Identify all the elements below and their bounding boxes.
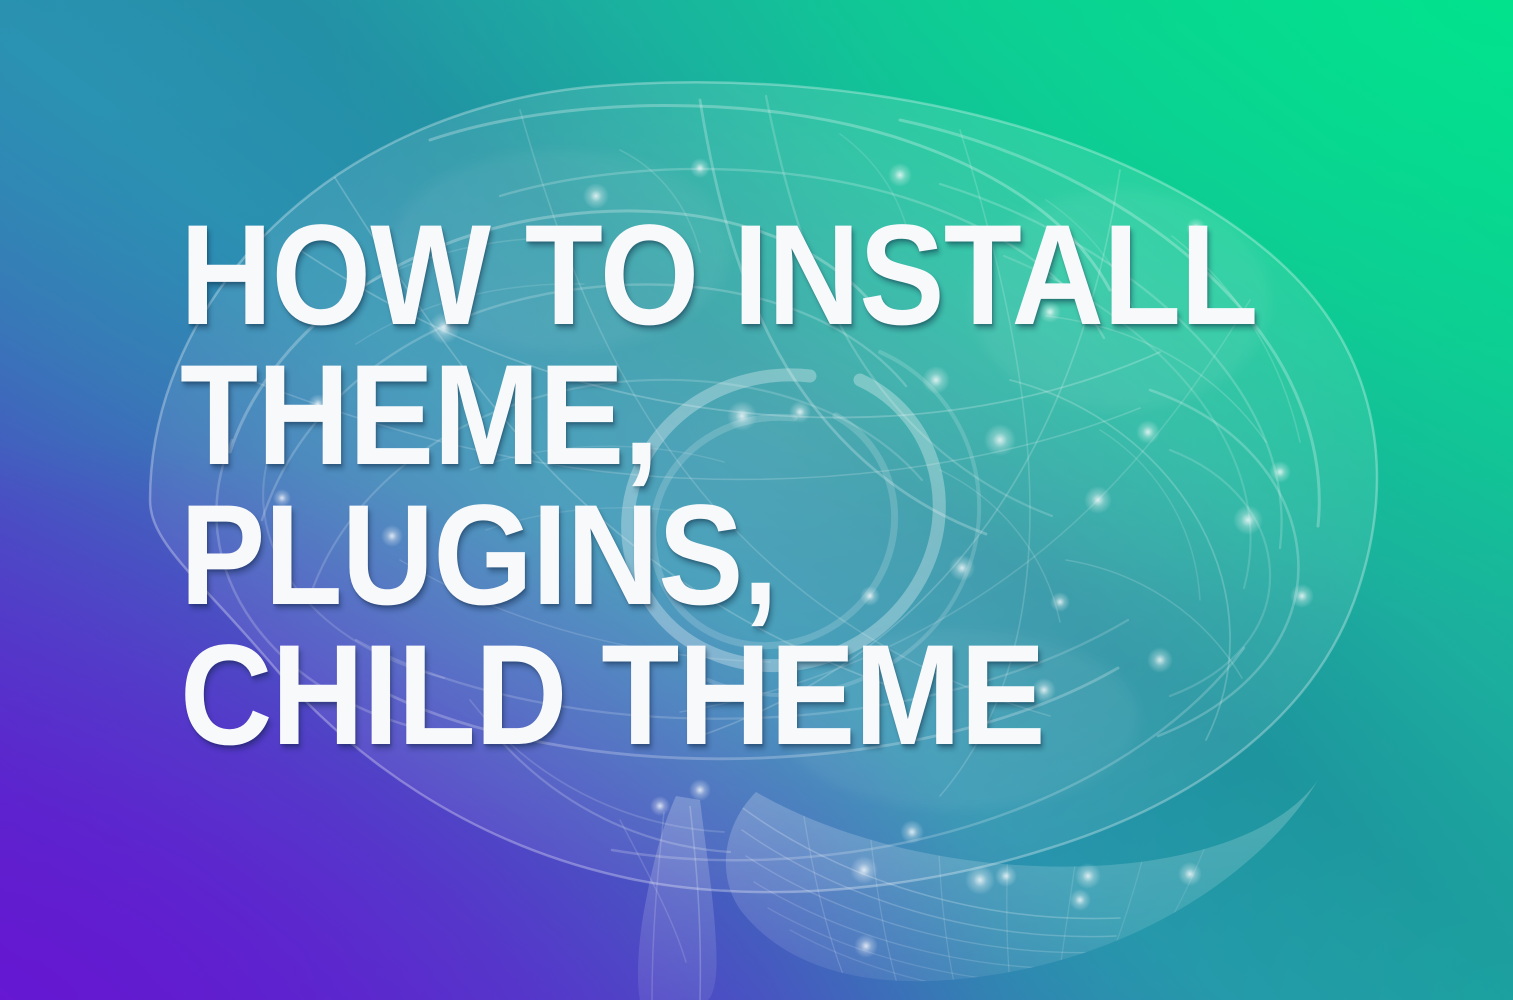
headline-line-3: PLUGINS, — [180, 486, 1299, 626]
headline-line-1: HOW TO INSTALL — [180, 206, 1299, 346]
headline-line-4: CHILD THEME — [180, 626, 1299, 766]
headline-block: HOW TO INSTALL THEME, PLUGINS, CHILD THE… — [180, 206, 1430, 766]
headline-line-2: THEME, — [180, 346, 1299, 486]
banner-image: HOW TO INSTALL THEME, PLUGINS, CHILD THE… — [0, 0, 1513, 1000]
